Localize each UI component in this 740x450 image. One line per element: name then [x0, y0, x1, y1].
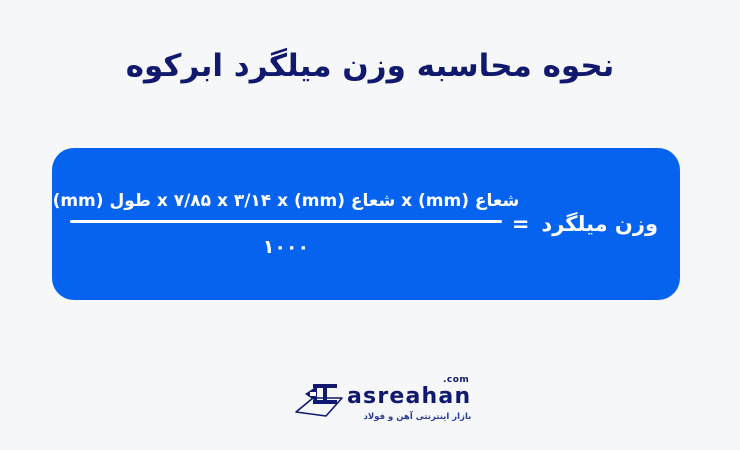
site-logo[interactable]: .com asreahan بازار اینترنتی آهن و فولاد — [287, 372, 453, 426]
page-root: نحوه محاسبه وزن میلگرد ابرکوه وزن میلگرد… — [0, 0, 740, 450]
page-title: نحوه محاسبه وزن میلگرد ابرکوه — [0, 44, 740, 88]
formula-result-label: وزن میلگرد — [541, 209, 658, 239]
logo-text-block: .com asreahan بازار اینترنتی آهن و فولاد — [347, 375, 471, 423]
steel-beam-icon — [293, 376, 345, 422]
formula-left-side: وزن میلگرد = — [502, 209, 658, 239]
formula-numerator: شعاع (mm) x شعاع (mm) x ۷/۸۵ x ۳/۱۴ x طو… — [53, 188, 520, 220]
formula-card: وزن میلگرد = شعاع (mm) x شعاع (mm) x ۷/۸… — [52, 148, 680, 300]
logo-name: asreahan — [347, 386, 471, 408]
formula-content: وزن میلگرد = شعاع (mm) x شعاع (mm) x ۷/۸… — [52, 148, 680, 300]
logo-wordmark: .com asreahan — [347, 375, 471, 408]
logo-tagline: بازار اینترنتی آهن و فولاد — [363, 411, 471, 423]
formula-fraction: شعاع (mm) x شعاع (mm) x ۷/۸۵ x ۳/۱۴ x طو… — [70, 188, 502, 260]
formula-denominator: ۱۰۰۰ — [263, 223, 309, 260]
